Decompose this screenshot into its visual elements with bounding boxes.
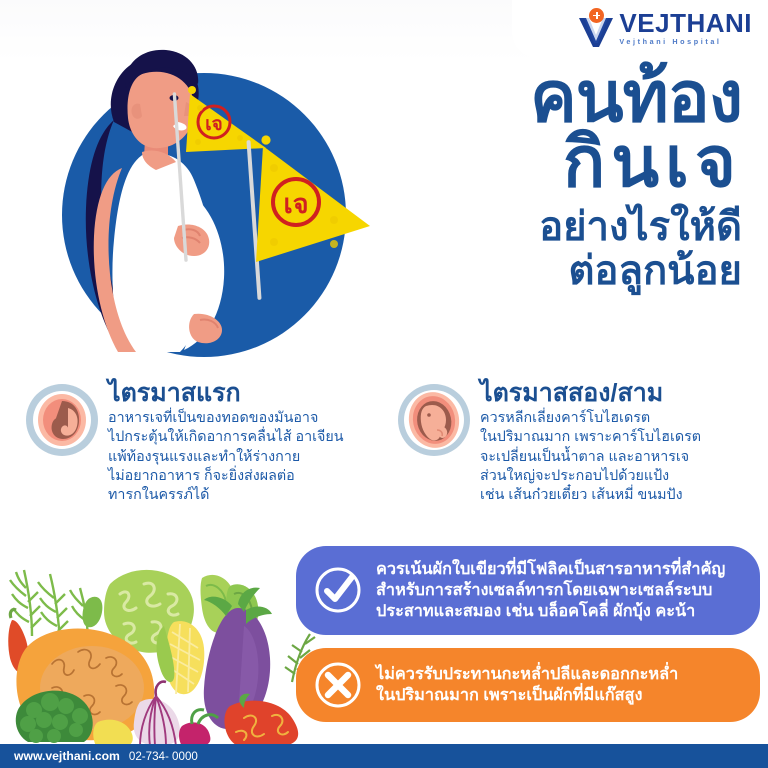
page-title: คนท้อง กินเจ อย่างไรให้ดี ต่อลูกน้อย: [342, 64, 742, 294]
text-line: ประสาทและสมอง เช่น บล็อคโคลี่ ผักบุ้ง คะ…: [376, 601, 725, 622]
footer-bar: www.vejthani.com 02-734- 0000: [0, 744, 768, 768]
embryo-first-trimester-icon: [24, 382, 100, 458]
vejthani-v-logo-icon: [578, 8, 614, 48]
svg-text:เจ: เจ: [205, 113, 223, 135]
brand-name: VEJTHANI: [619, 10, 752, 36]
assorted-vegetables-illustration: [0, 536, 322, 746]
fetus-second-third-trimester-icon: [396, 382, 472, 458]
check-circle-icon: [314, 566, 362, 614]
text-line: ไปกระตุ้นให้เกิดอาการคลื่นไส้ อาเจียน: [108, 428, 384, 447]
text-line: แพ้ท้องรุนแรงและทำให้ร่างกาย: [108, 448, 384, 467]
title-line-1: คนท้อง: [342, 64, 742, 131]
footer-website[interactable]: www.vejthani.com: [14, 749, 120, 763]
trimester-first-text: อาหารเจที่เป็นของทอดของมันอาจ ไปกระตุ้นใ…: [108, 409, 384, 505]
callout-avoid-text: ไม่ควรรับประทานกะหล่ำปลีและดอกกะหล่ำ ในป…: [376, 664, 678, 706]
text-line: อาหารเจที่เป็นของทอดของมันอาจ: [108, 409, 384, 428]
title-line-3: อย่างไรให้ดี: [342, 205, 742, 250]
text-line: ไม่อยากอาหาร ก็จะยิ่งส่งผลต่อ: [108, 467, 384, 486]
text-line: ในปริมาณมาก เพราะเป็นผักที่มีแก๊สสูง: [376, 685, 678, 706]
trimester-second-third-text: ควรหลีกเลี่ยงคาร์โบไฮเดรต ในปริมาณมาก เพ…: [480, 409, 758, 505]
footer-phone[interactable]: 02-734- 0000: [129, 750, 198, 763]
trimester-second-third-title: ไตรมาสสอง/สาม: [480, 380, 758, 406]
brand-logo[interactable]: VEJTHANI Vejthani Hospital: [578, 8, 752, 48]
text-line: ในปริมาณมาก เพราะคาร์โบไฮเดรต: [480, 428, 758, 447]
text-line: ไม่ควรรับประทานกะหล่ำปลีและดอกกะหล่ำ: [376, 664, 678, 685]
trimester-first-title: ไตรมาสแรก: [108, 380, 384, 406]
callout-avoid[interactable]: ไม่ควรรับประทานกะหล่ำปลีและดอกกะหล่ำ ในป…: [296, 648, 760, 722]
text-line: ทารกในครรภ์ได้: [108, 486, 384, 505]
trimester-card-second-third: ไตรมาสสอง/สาม ควรหลีกเลี่ยงคาร์โบไฮเดรต …: [396, 380, 758, 505]
text-line: ส่วนใหญ่จะประกอบไปด้วยแป้ง: [480, 467, 758, 486]
text-line: ควรเน้นผักใบเขียวที่มีโฟลิคเป็นสารอาหารท…: [376, 559, 725, 580]
brand-text: VEJTHANI Vejthani Hospital: [619, 10, 752, 45]
callout-recommended[interactable]: ควรเน้นผักใบเขียวที่มีโฟลิคเป็นสารอาหารท…: [296, 546, 760, 635]
infographic-poster: VEJTHANI Vejthani Hospital: [0, 0, 768, 768]
text-line: ควรหลีกเลี่ยงคาร์โบไฮเดรต: [480, 409, 758, 428]
trimester-second-third-body: ไตรมาสสอง/สาม ควรหลีกเลี่ยงคาร์โบไฮเดรต …: [480, 380, 758, 505]
trimester-section: ไตรมาสแรก อาหารเจที่เป็นของทอดของมันอาจ …: [0, 380, 768, 530]
text-line: จะเปลี่ยนเป็นน้ำตาล และอาหารเจ: [480, 448, 758, 467]
text-line: สำหรับการสร้างเซลล์ทารกโดยเฉพาะเซลล์ระบบ: [376, 580, 725, 601]
pregnant-woman-with-jay-flags-illustration: เจ เจ: [18, 30, 378, 370]
trimester-first-body: ไตรมาสแรก อาหารเจที่เป็นของทอดของมันอาจ …: [108, 380, 384, 505]
svg-text:เจ: เจ: [283, 189, 308, 220]
title-line-2: กินเจ: [342, 127, 742, 198]
cross-circle-icon: [314, 661, 362, 709]
brand-tagline: Vejthani Hospital: [619, 38, 752, 45]
title-line-4: ต่อลูกน้อย: [342, 249, 742, 294]
trimester-card-first: ไตรมาสแรก อาหารเจที่เป็นของทอดของมันอาจ …: [24, 380, 384, 505]
text-line: เช่น เส้นก๋วยเตี๋ยว เส้นหมี่ ขนมปัง: [480, 486, 758, 505]
callout-recommended-text: ควรเน้นผักใบเขียวที่มีโฟลิคเป็นสารอาหารท…: [376, 559, 725, 622]
